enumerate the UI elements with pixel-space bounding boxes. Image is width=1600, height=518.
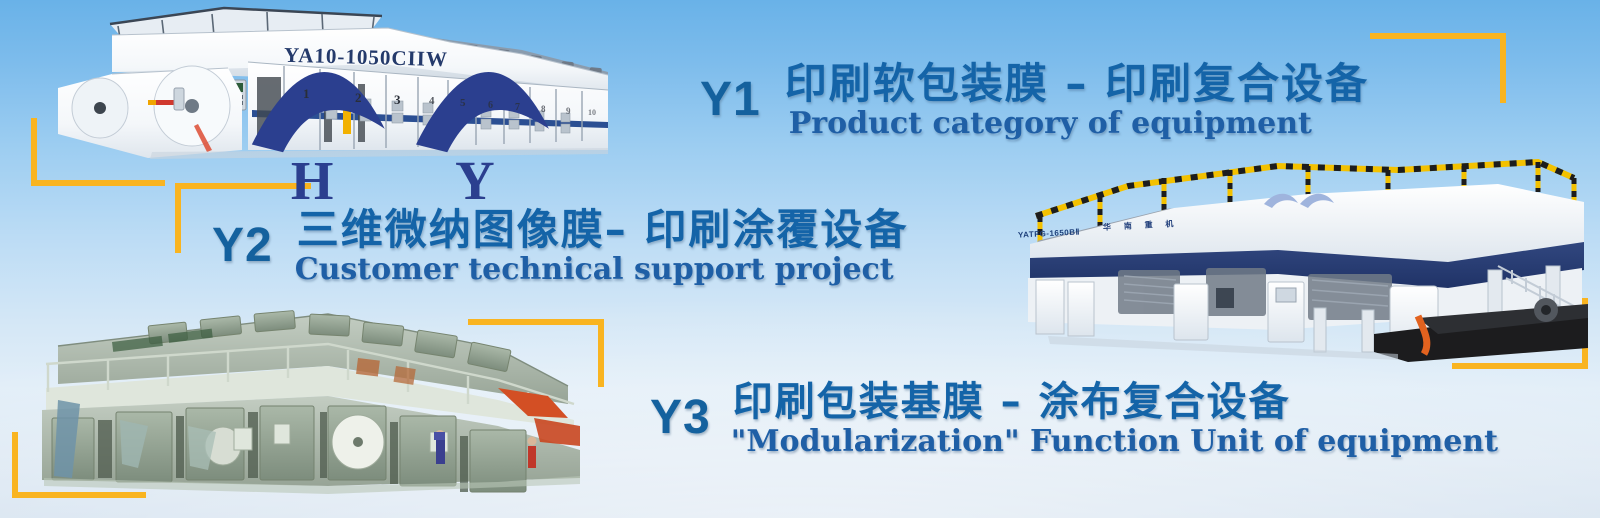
row-y1-english: Product category of equipment <box>789 108 1369 140</box>
row-y3-english: "Modularization" Function Unit of equipm… <box>731 426 1498 458</box>
text-row-y2: Y2 三维微纳图像膜– 印刷涂覆设备 Customer technical su… <box>212 208 908 285</box>
banner-canvas: YA10-1050CIIW H Y 1 2 3 4 5 6 7 8 9 10 <box>0 0 1600 518</box>
hy-brand-logo: H Y <box>136 35 696 207</box>
machine-photo-coating-laminator: YATFG-1650BⅡ 华 南 重 机 <box>978 158 1588 364</box>
press-unit-3: 3 <box>394 92 401 108</box>
press-unit-10: 10 <box>588 108 596 117</box>
machine-photo-coating-line <box>28 300 588 498</box>
row-y1-code: Y1 <box>700 76 761 124</box>
press-unit-4: 4 <box>429 95 435 107</box>
svg-text:Y: Y <box>455 150 495 207</box>
svg-text:H: H <box>291 150 334 207</box>
row-y2-english: Customer technical support project <box>295 254 909 286</box>
row-y2-chinese: 三维微纳图像膜– 印刷涂覆设备 <box>297 208 909 252</box>
press-unit-7: 7 <box>515 102 520 113</box>
row-y3-chinese: 印刷包装基膜 – 涂布复合设备 <box>733 382 1498 424</box>
machine-photo-printing-press: YA10-1050CIIW H Y 1 2 3 4 5 6 7 8 9 10 <box>52 2 612 174</box>
bracket-y1-top-right <box>1370 33 1506 39</box>
bracket-y1-right-down <box>1500 33 1506 103</box>
bracket-y3-right-down <box>598 319 604 387</box>
row-y3-code: Y3 <box>650 394 711 442</box>
row-y1-chinese: 印刷软包装膜 – 印刷复合设备 <box>785 62 1369 106</box>
bracket-y3-left-up <box>12 432 18 498</box>
press-unit-1: 1 <box>303 86 310 102</box>
bracket-y1-left-down <box>31 118 37 186</box>
press-unit-5: 5 <box>460 97 466 109</box>
text-row-y1: Y1 印刷软包装膜 – 印刷复合设备 Product category of e… <box>700 62 1369 139</box>
press-unit-6: 6 <box>488 100 493 111</box>
press-unit-9: 9 <box>566 106 571 116</box>
text-row-y3: Y3 印刷包装基膜 – 涂布复合设备 "Modularization" Func… <box>650 382 1498 457</box>
press-unit-8: 8 <box>541 104 546 114</box>
press-unit-2: 2 <box>355 90 362 106</box>
row-y2-code: Y2 <box>212 222 273 270</box>
